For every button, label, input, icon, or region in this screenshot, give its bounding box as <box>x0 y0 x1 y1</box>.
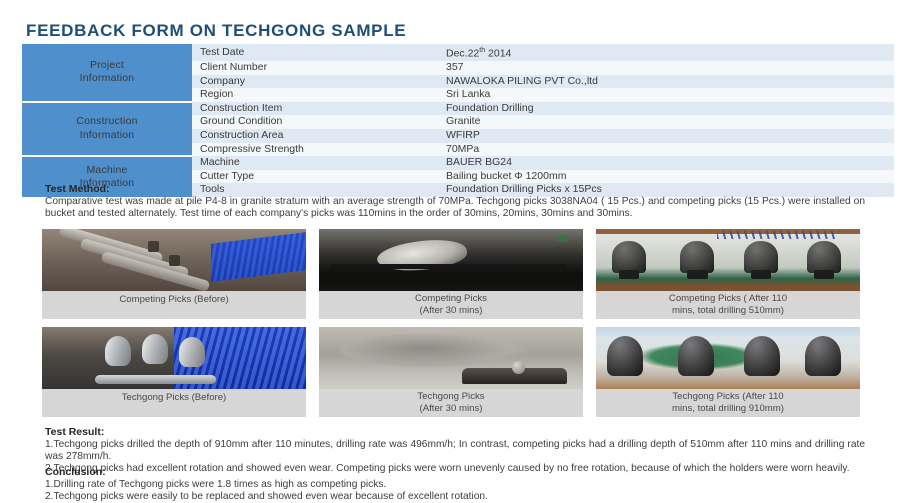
category-label-line1: Construction <box>22 115 192 129</box>
photo-shading <box>319 327 583 389</box>
photo-caption: Competing Picks ( After 110 mins, total … <box>596 291 860 319</box>
feedback-form-page: FEEDBACK FORM ON TECHGONG SAMPLE Project… <box>0 0 900 500</box>
photo-shading <box>42 229 306 291</box>
photo-caption: Competing Picks (After 30 mins) <box>319 291 583 319</box>
photo-shading <box>596 229 860 291</box>
photo-row-techgong: Techgong Picks (Before) Techgong Picks (… <box>42 327 860 417</box>
row-value: NAWALOKA PILING PVT Co.,ltd <box>438 75 894 89</box>
category-label-line2: Information <box>22 129 192 143</box>
photo-caption: Techgong Picks (Before) <box>42 389 306 409</box>
item-text: Drilling rate of Techgong picks were 1.8… <box>54 479 387 490</box>
test-result-item-1: 1.Techgong picks drilled the depth of 91… <box>45 439 865 464</box>
row-value: Sri Lanka <box>438 88 894 102</box>
category-label-line1: Machine <box>22 164 192 178</box>
caption-line-1: Techgong Picks (Before) <box>44 392 304 404</box>
category-project-information: Project Information <box>22 44 192 102</box>
table-row: Construction Information Construction It… <box>22 102 894 116</box>
row-value: Dec.22th 2014 <box>438 44 894 61</box>
photo-competing-picks-before <box>42 229 306 291</box>
item-text: Techgong picks were easily to be replace… <box>54 491 488 502</box>
item-number: 1. <box>45 479 54 490</box>
row-value: Granite <box>438 115 894 129</box>
caption-line-2: (After 30 mins) <box>321 403 581 415</box>
table-row: Machine Information Machine BAUER BG24 <box>22 156 894 170</box>
photo-art <box>319 327 583 389</box>
row-label: Construction Item <box>192 102 438 116</box>
row-label: Test Date <box>192 44 438 61</box>
row-value: 357 <box>438 61 894 75</box>
row-label: Client Number <box>192 61 438 75</box>
caption-line-1: Techgong Picks <box>321 391 581 403</box>
test-date-value: Dec.22 <box>446 48 479 60</box>
category-label-line2: Information <box>22 72 192 86</box>
photo-techgong-picks-after-30 <box>319 327 583 389</box>
test-date-year: 2014 <box>485 48 511 60</box>
item-number: 1. <box>45 439 54 450</box>
test-result-heading: Test Result: <box>45 426 865 439</box>
photo-card-techgong-picks-before: Techgong Picks (Before) <box>42 327 306 417</box>
row-label: Machine <box>192 156 438 170</box>
caption-line-1: Competing Picks (Before) <box>44 294 304 306</box>
test-method-text: Comparative test was made at pile P4-8 i… <box>45 196 865 221</box>
caption-line-1: Techgong Picks (After 110 <box>598 391 858 403</box>
conclusion-section: Conclusion: 1.Drilling rate of Techgong … <box>45 466 865 503</box>
photo-shading <box>42 327 306 389</box>
photo-shading <box>319 229 583 291</box>
row-value: 70MPa <box>438 143 894 157</box>
photo-card-competing-picks-after-110: Competing Picks ( After 110 mins, total … <box>596 229 860 319</box>
photo-art <box>596 327 860 389</box>
photo-card-competing-picks-before: Competing Picks (Before) <box>42 229 306 319</box>
photo-grid: Competing Picks (Before) Competing Picks… <box>42 229 860 425</box>
row-label: Company <box>192 75 438 89</box>
caption-line-1: Competing Picks <box>321 293 581 305</box>
table-row: Project Information Test Date Dec.22th 2… <box>22 44 894 61</box>
test-method-heading: Test Method: <box>45 183 865 196</box>
row-value: BAUER BG24 <box>438 156 894 170</box>
photo-competing-picks-after-110 <box>596 229 860 291</box>
test-method-section: Test Method: Comparative test was made a… <box>45 183 865 220</box>
conclusion-item-1: 1.Drilling rate of Techgong picks were 1… <box>45 479 865 491</box>
row-label: Compressive Strength <box>192 143 438 157</box>
photo-card-techgong-picks-after-30: Techgong Picks (After 30 mins) <box>319 327 583 417</box>
conclusion-heading: Conclusion: <box>45 466 865 479</box>
photo-techgong-picks-before <box>42 327 306 389</box>
page-title: FEEDBACK FORM ON TECHGONG SAMPLE <box>26 21 406 41</box>
conclusion-item-2: 2.Techgong picks were easily to be repla… <box>45 491 865 503</box>
photo-caption: Techgong Picks (After 110 mins, total dr… <box>596 389 860 417</box>
photo-art <box>319 229 583 291</box>
row-value: Bailing bucket Φ 1200mm <box>438 170 894 184</box>
row-label: Construction Area <box>192 129 438 143</box>
photo-card-techgong-picks-after-110: Techgong Picks (After 110 mins, total dr… <box>596 327 860 417</box>
photo-art <box>596 229 860 291</box>
row-value: Foundation Drilling <box>438 102 894 116</box>
photo-row-competing: Competing Picks (Before) Competing Picks… <box>42 229 860 319</box>
photo-art <box>42 327 306 389</box>
caption-line-2: mins, total drilling 510mm) <box>598 305 858 317</box>
photo-card-competing-picks-after-30: Competing Picks (After 30 mins) <box>319 229 583 319</box>
category-construction-information: Construction Information <box>22 102 192 156</box>
photo-shading <box>596 327 860 389</box>
row-value: WFIRP <box>438 129 894 143</box>
row-label: Region <box>192 88 438 102</box>
photo-caption: Competing Picks (Before) <box>42 291 306 311</box>
project-info-table: Project Information Test Date Dec.22th 2… <box>22 44 894 197</box>
item-number: 2. <box>45 491 54 502</box>
photo-caption: Techgong Picks (After 30 mins) <box>319 389 583 417</box>
photo-competing-picks-after-30 <box>319 229 583 291</box>
item-text: Techgong picks drilled the depth of 910m… <box>45 439 865 462</box>
caption-line-2: (After 30 mins) <box>321 305 581 317</box>
caption-line-2: mins, total drilling 910mm) <box>598 403 858 415</box>
row-label: Cutter Type <box>192 170 438 184</box>
category-label-line1: Project <box>22 59 192 73</box>
photo-art <box>42 229 306 291</box>
photo-techgong-picks-after-110 <box>596 327 860 389</box>
caption-line-1: Competing Picks ( After 110 <box>598 293 858 305</box>
row-label: Ground Condition <box>192 115 438 129</box>
